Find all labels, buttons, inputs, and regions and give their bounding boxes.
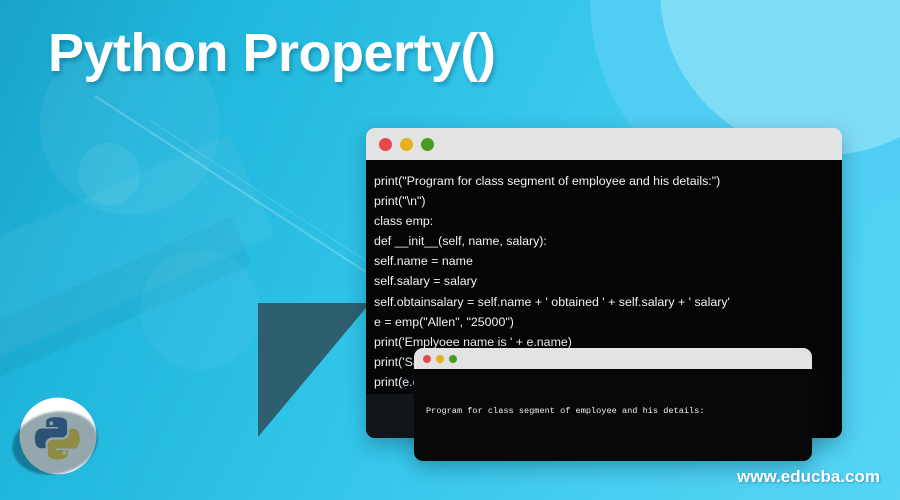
code-line: print("\n") [374,191,842,211]
terminal-output-window: Program for class segment of employee an… [414,348,812,461]
maximize-icon[interactable] [421,138,434,151]
code-line: e = emp("Allen", "25000") [374,312,842,332]
minimize-icon[interactable] [400,138,413,151]
bg-circle-small [78,143,140,205]
code-line: def __init__(self, name, salary): [374,231,842,251]
python-logo [18,396,98,476]
code-line: self.obtainsalary = self.name + ' obtain… [374,292,842,312]
page-title: Python Property() [48,22,496,84]
code-window-title-bar [366,128,842,160]
code-line: print("Program for class segment of empl… [374,171,842,191]
maximize-icon[interactable] [449,355,457,363]
slide-canvas: Python Property() print("Program for cla… [0,0,900,500]
output-line: Program for class segment of employee an… [426,405,812,419]
output-window-title-bar [414,348,812,369]
bg-circle-medium [140,250,260,370]
terminal-output-content[interactable]: Program for class segment of employee an… [414,369,812,461]
site-url: www.educba.com [737,467,880,487]
arrow-shape-left [258,303,370,437]
code-line: class emp: [374,211,842,231]
code-line: self.salary = salary [374,271,842,291]
minimize-icon[interactable] [436,355,444,363]
output-line-blank [426,446,812,460]
close-icon[interactable] [423,355,431,363]
close-icon[interactable] [379,138,392,151]
code-line: self.name = name [374,251,842,271]
bg-diagonal-band-light [0,134,274,405]
